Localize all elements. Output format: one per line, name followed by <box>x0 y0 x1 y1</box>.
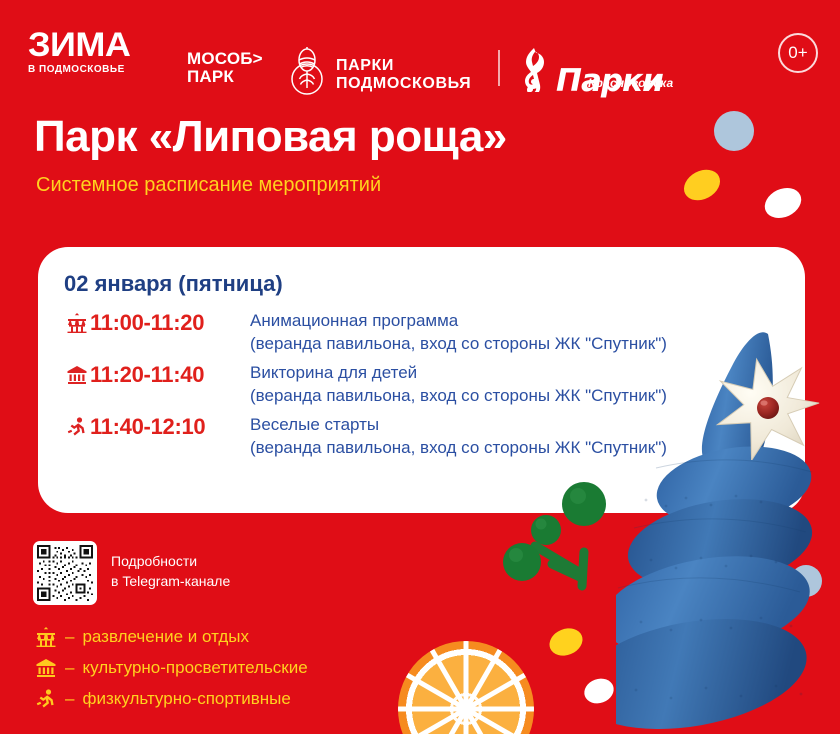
schedule-event-name: Анимационная программа <box>250 311 458 330</box>
green-plant-decoration <box>500 478 620 608</box>
legend-item: – физкультурно-спортивные <box>33 688 308 710</box>
legend-label: культурно-просветительские <box>82 657 307 679</box>
runner-icon <box>33 689 59 710</box>
white-dot-decoration <box>581 675 617 708</box>
schedule-event-place: (веранда павильона, вход со стороны ЖК "… <box>250 332 667 355</box>
blue-dot-decoration <box>714 111 754 151</box>
parki-krasnogorska-logo-sub: Красногорска <box>588 76 673 90</box>
qr-block[interactable]: Подробности в Telegram-канале <box>33 541 230 605</box>
schedule-time: 11:40-12:10 <box>90 413 250 440</box>
runner-icon <box>64 415 90 439</box>
schedule-event-place: (веранда павильона, вход со стороны ЖК "… <box>250 384 667 407</box>
carousel-icon <box>33 627 59 647</box>
parki-podmoskovya-logo-line2: ПОДМОСКОВЬЯ <box>336 75 471 93</box>
legend-item: – развлечение и отдых <box>33 626 308 648</box>
legend-item: – культурно-просветительские <box>33 657 308 679</box>
legend-dash: – <box>65 657 74 679</box>
yellow-dot-decoration <box>545 624 586 661</box>
parki-podmoskovya-logo-text: ПАРКИ ПОДМОСКОВЬЯ <box>336 57 471 93</box>
legend-dash: – <box>65 626 74 648</box>
zima-logo-subtitle: В ПОДМОСКОВЬЕ <box>28 63 125 76</box>
schedule-time: 11:00-11:20 <box>90 309 250 336</box>
mosobpark-logo-line2: ПАРК <box>187 68 263 86</box>
schedule-event-place: (веранда павильона, вход со стороны ЖК "… <box>250 436 667 459</box>
yellow-dot-decoration <box>679 164 726 207</box>
pinecone-fountain-icon <box>286 46 328 103</box>
schedule-description: Веселые старты (веранда павильона, вход … <box>250 413 667 459</box>
schedule-time: 11:20-11:40 <box>90 361 250 388</box>
mosobpark-logo: МОСОБ> ПАРК <box>187 50 263 86</box>
legend-dash: – <box>65 688 74 710</box>
legend-label: физкультурно-спортивные <box>82 688 290 710</box>
schedule-event-name: Викторина для детей <box>250 363 417 382</box>
zima-logo: ЗИМА В ПОДМОСКОВЬЕ <box>28 28 125 76</box>
page-title: Парк «Липовая роща» <box>34 112 507 162</box>
parki-krasnogorska-logo: Парки Красногорска <box>516 46 663 97</box>
header-logo-row: ЗИМА В ПОДМОСКОВЬЕ МОСОБ> ПАРК <box>28 24 812 80</box>
carousel-icon <box>64 311 90 335</box>
schedule-description: Анимационная программа (веранда павильон… <box>250 309 667 355</box>
age-rating-badge: 0+ <box>778 33 818 73</box>
qr-caption-line2: в Telegram-канале <box>111 571 230 591</box>
legend-label: развлечение и отдых <box>82 626 249 648</box>
zima-logo-word: ЗИМА <box>28 28 131 62</box>
orange-slice-decoration <box>398 641 534 734</box>
qr-code-icon[interactable] <box>33 541 97 605</box>
logo-divider <box>498 50 500 86</box>
qr-caption: Подробности в Telegram-канале <box>111 541 230 591</box>
legend: – развлечение и отдых – культурно-просве… <box>33 626 308 710</box>
star-topper-decoration <box>713 356 821 460</box>
schedule-description: Викторина для детей (веранда павильона, … <box>250 361 667 407</box>
treble-clef-icon <box>516 46 552 97</box>
poster-root: ЗИМА В ПОДМОСКОВЬЕ МОСОБ> ПАРК <box>0 0 840 734</box>
page-subtitle: Системное расписание мероприятий <box>36 172 381 198</box>
parki-podmoskovya-logo: ПАРКИ ПОДМОСКОВЬЯ <box>286 46 471 103</box>
schedule-date: 02 января (пятница) <box>64 271 779 297</box>
parki-podmoskovya-logo-line1: ПАРКИ <box>336 57 471 75</box>
museum-icon <box>64 363 90 387</box>
mosobpark-logo-line1: МОСОБ> <box>187 50 263 68</box>
qr-caption-line1: Подробности <box>111 551 230 571</box>
museum-icon <box>33 658 59 678</box>
schedule-event-name: Веселые старты <box>250 415 379 434</box>
white-dot-decoration <box>760 182 806 223</box>
